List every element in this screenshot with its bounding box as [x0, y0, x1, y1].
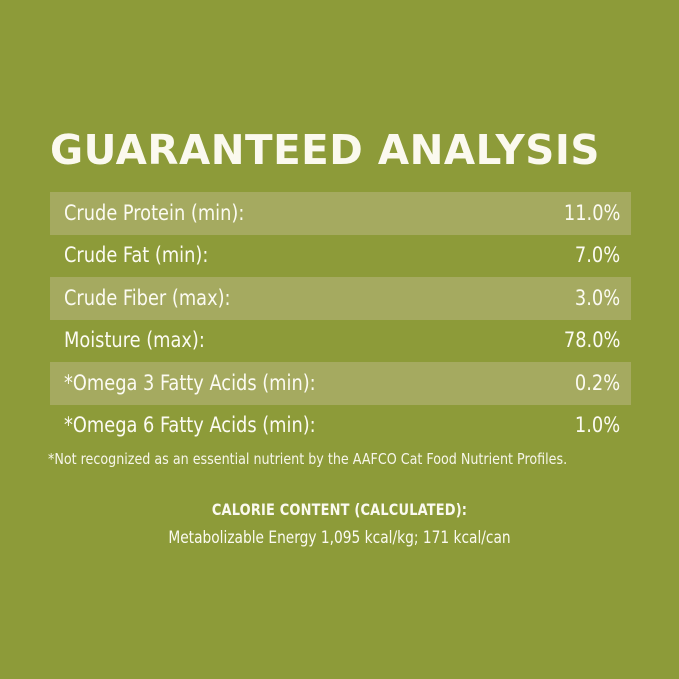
table-row: Crude Fiber (max): 3.0%	[50, 277, 631, 320]
footnote-text: *Not recognized as an essential nutrient…	[48, 450, 597, 468]
nutrient-value: 11.0%	[563, 203, 620, 225]
table-row: Moisture (max): 78.0%	[50, 320, 631, 363]
nutrient-label: *Omega 6 Fatty Acids (min):	[64, 415, 530, 437]
table-row: *Omega 6 Fatty Acids (min): 1.0%	[50, 405, 631, 448]
table-row: *Omega 3 Fatty Acids (min): 0.2%	[50, 362, 631, 405]
table-row: Crude Fat (min): 7.0%	[50, 235, 631, 278]
nutrient-value: 78.0%	[563, 330, 620, 352]
nutrient-value: 7.0%	[575, 245, 620, 267]
calorie-content-section: CALORIE CONTENT (CALCULATED): Metaboliza…	[0, 500, 679, 548]
nutrient-label: Crude Fat (min):	[64, 245, 530, 267]
nutrient-value: 3.0%	[575, 288, 620, 310]
nutrient-label: Moisture (max):	[64, 330, 519, 352]
nutrient-value: 0.2%	[575, 373, 620, 395]
nutrient-label: Crude Protein (min):	[64, 203, 519, 225]
calorie-content-heading: CALORIE CONTENT (CALCULATED):	[34, 500, 645, 520]
nutrient-label: *Omega 3 Fatty Acids (min):	[64, 373, 530, 395]
nutrient-label: Crude Fiber (max):	[64, 288, 530, 310]
metabolizable-energy-text: Metabolizable Energy 1,095 kcal/kg; 171 …	[34, 528, 645, 548]
nutrient-value: 1.0%	[575, 415, 620, 437]
guaranteed-analysis-table: Crude Protein (min): 11.0% Crude Fat (mi…	[50, 192, 631, 447]
table-row: Crude Protein (min): 11.0%	[50, 192, 631, 235]
guaranteed-analysis-panel: GUARANTEED ANALYSIS Crude Protein (min):…	[0, 0, 679, 679]
page-title: GUARANTEED ANALYSIS	[50, 125, 623, 175]
